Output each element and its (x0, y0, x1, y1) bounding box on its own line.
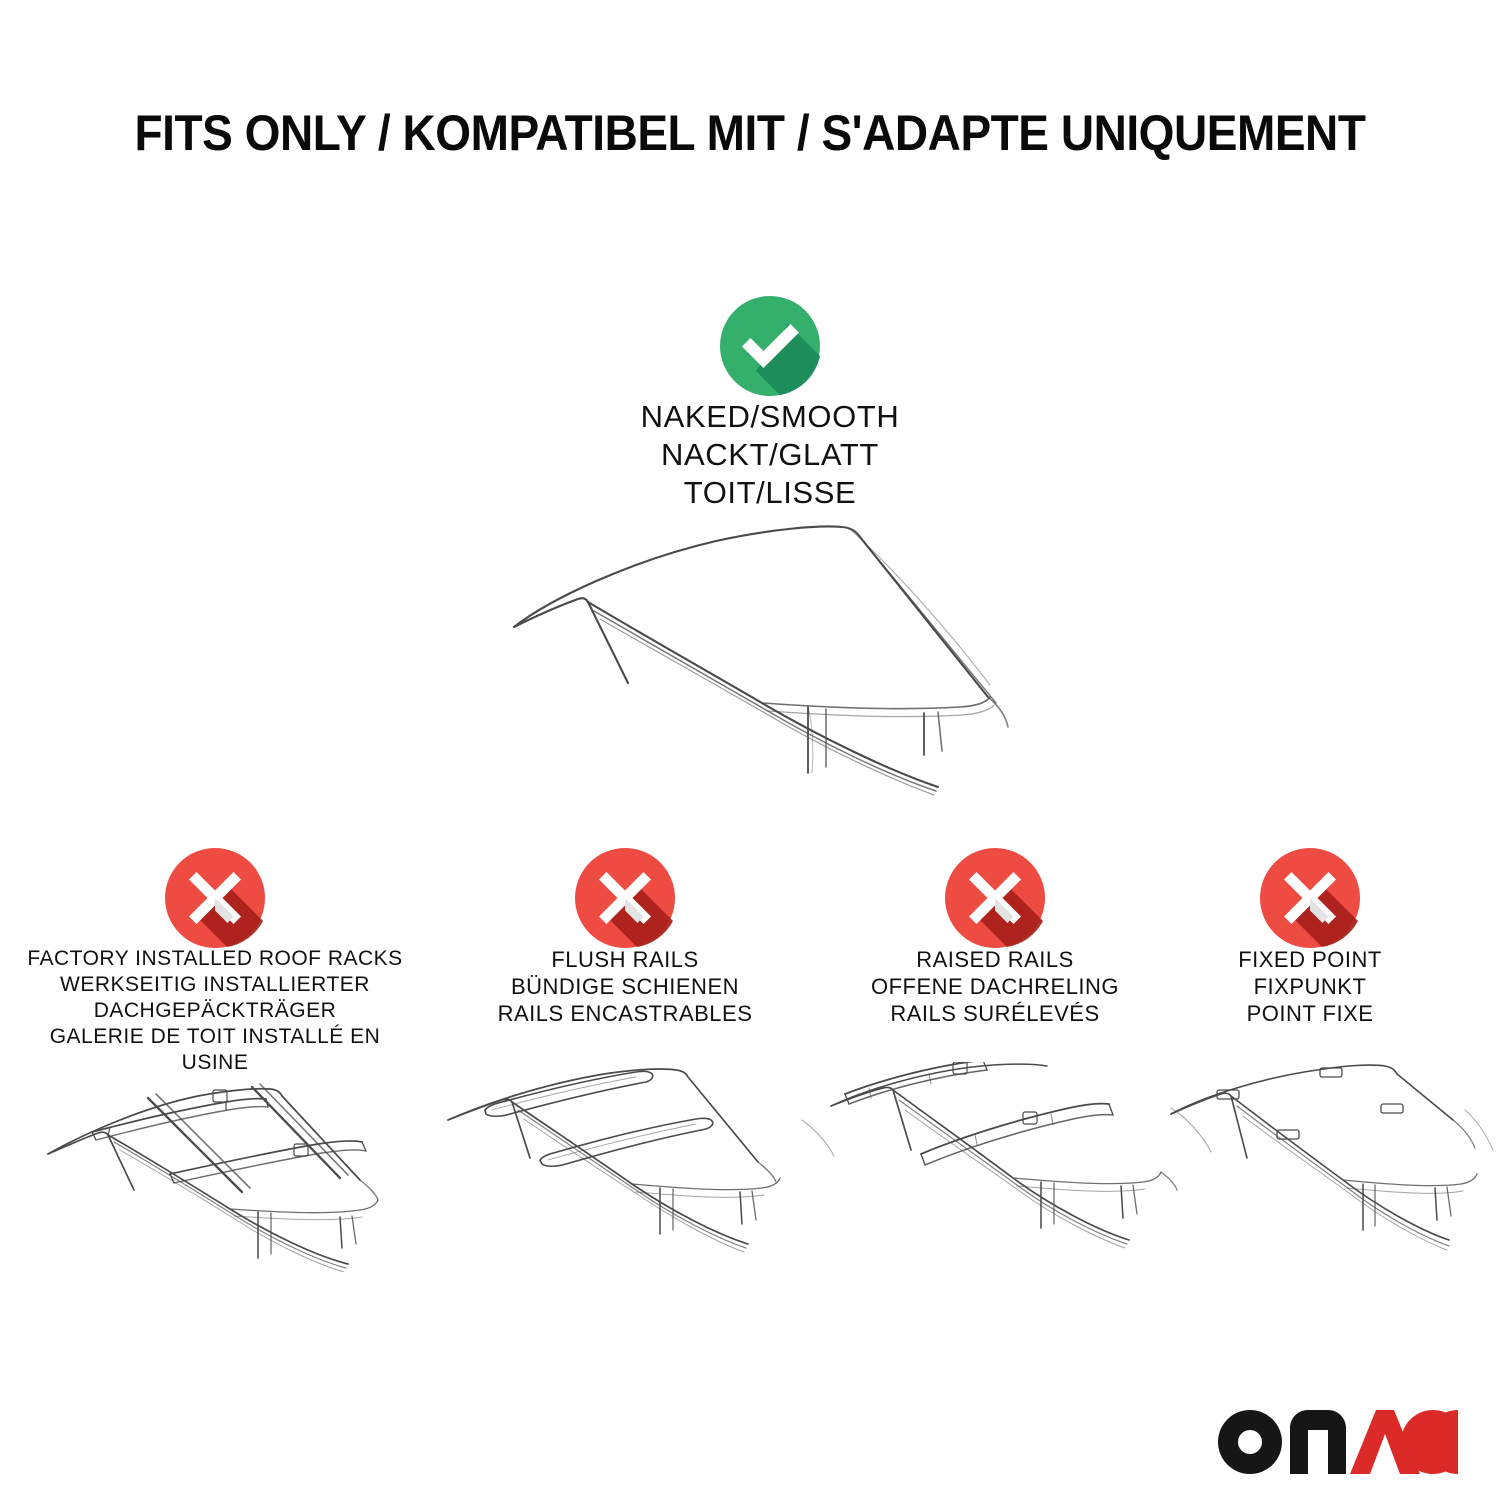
label-line-2: WERKSEITIG INSTALLIERTER (15, 972, 415, 998)
label-line-1: FLUSH RAILS (425, 946, 825, 973)
compatible-label-line-2: NACKT/GLATT (500, 436, 1040, 474)
label-line-3: DACHGEPÄCKTRÄGER (15, 998, 415, 1024)
compatible-label-line-1: NAKED/SMOOTH (500, 398, 1040, 436)
label-line-2: OFFENE DACHRELING (795, 973, 1195, 1000)
label-line-1: FACTORY INSTALLED ROOF RACKS (15, 946, 415, 972)
cross-circle-icon (1258, 846, 1362, 950)
incompatible-label-factory-rack: FACTORY INSTALLED ROOF RACKS WERKSEITIG … (15, 946, 415, 1076)
incompatible-label-raised-rails: RAISED RAILS OFFENE DACHRELING RAILS SUR… (795, 946, 1195, 1027)
compatible-label-line-3: TOIT/LISSE (500, 474, 1040, 512)
compatibility-infographic: FITS ONLY / KOMPATIBEL MIT / S'ADAPTE UN… (0, 0, 1500, 1500)
car-roof-flush-rails-illustration (440, 1062, 840, 1272)
incompatible-column-flush-rails: FLUSH RAILS BÜNDIGE SCHIENEN RAILS ENCAS… (425, 946, 825, 1027)
label-line-2: BÜNDIGE SCHIENEN (425, 973, 825, 1000)
page-title: FITS ONLY / KOMPATIBEL MIT / S'ADAPTE UN… (60, 104, 1440, 162)
incompatible-column-factory-rack: FACTORY INSTALLED ROOF RACKS WERKSEITIG … (15, 946, 415, 1076)
incompatible-column-fixed-point: FIXED POINT FIXPUNKT POINT FIXE (1150, 946, 1470, 1027)
incompatible-label-flush-rails: FLUSH RAILS BÜNDIGE SCHIENEN RAILS ENCAS… (425, 946, 825, 1027)
cross-circle-icon (573, 846, 677, 950)
incompatible-column-raised-rails: RAISED RAILS OFFENE DACHRELING RAILS SUR… (795, 946, 1195, 1027)
label-line-3: POINT FIXE (1150, 1000, 1470, 1027)
label-line-3: RAILS SURÉLEVÉS (795, 1000, 1195, 1027)
car-roof-fixed-point-illustration (1165, 1062, 1495, 1272)
car-roof-naked-smooth-illustration (490, 515, 1050, 805)
omac-logo (1216, 1408, 1460, 1478)
label-line-1: RAISED RAILS (795, 946, 1195, 973)
car-roof-factory-rack-illustration (30, 1062, 430, 1272)
compatible-label: NAKED/SMOOTH NACKT/GLATT TOIT/LISSE (500, 398, 1040, 512)
label-line-3: RAILS ENCASTRABLES (425, 1000, 825, 1027)
label-line-1: FIXED POINT (1150, 946, 1470, 973)
label-line-2: FIXPUNKT (1150, 973, 1470, 1000)
cross-circle-icon (943, 846, 1047, 950)
cross-circle-icon (163, 846, 267, 950)
check-circle-icon (718, 294, 822, 398)
incompatible-label-fixed-point: FIXED POINT FIXPUNKT POINT FIXE (1150, 946, 1470, 1027)
